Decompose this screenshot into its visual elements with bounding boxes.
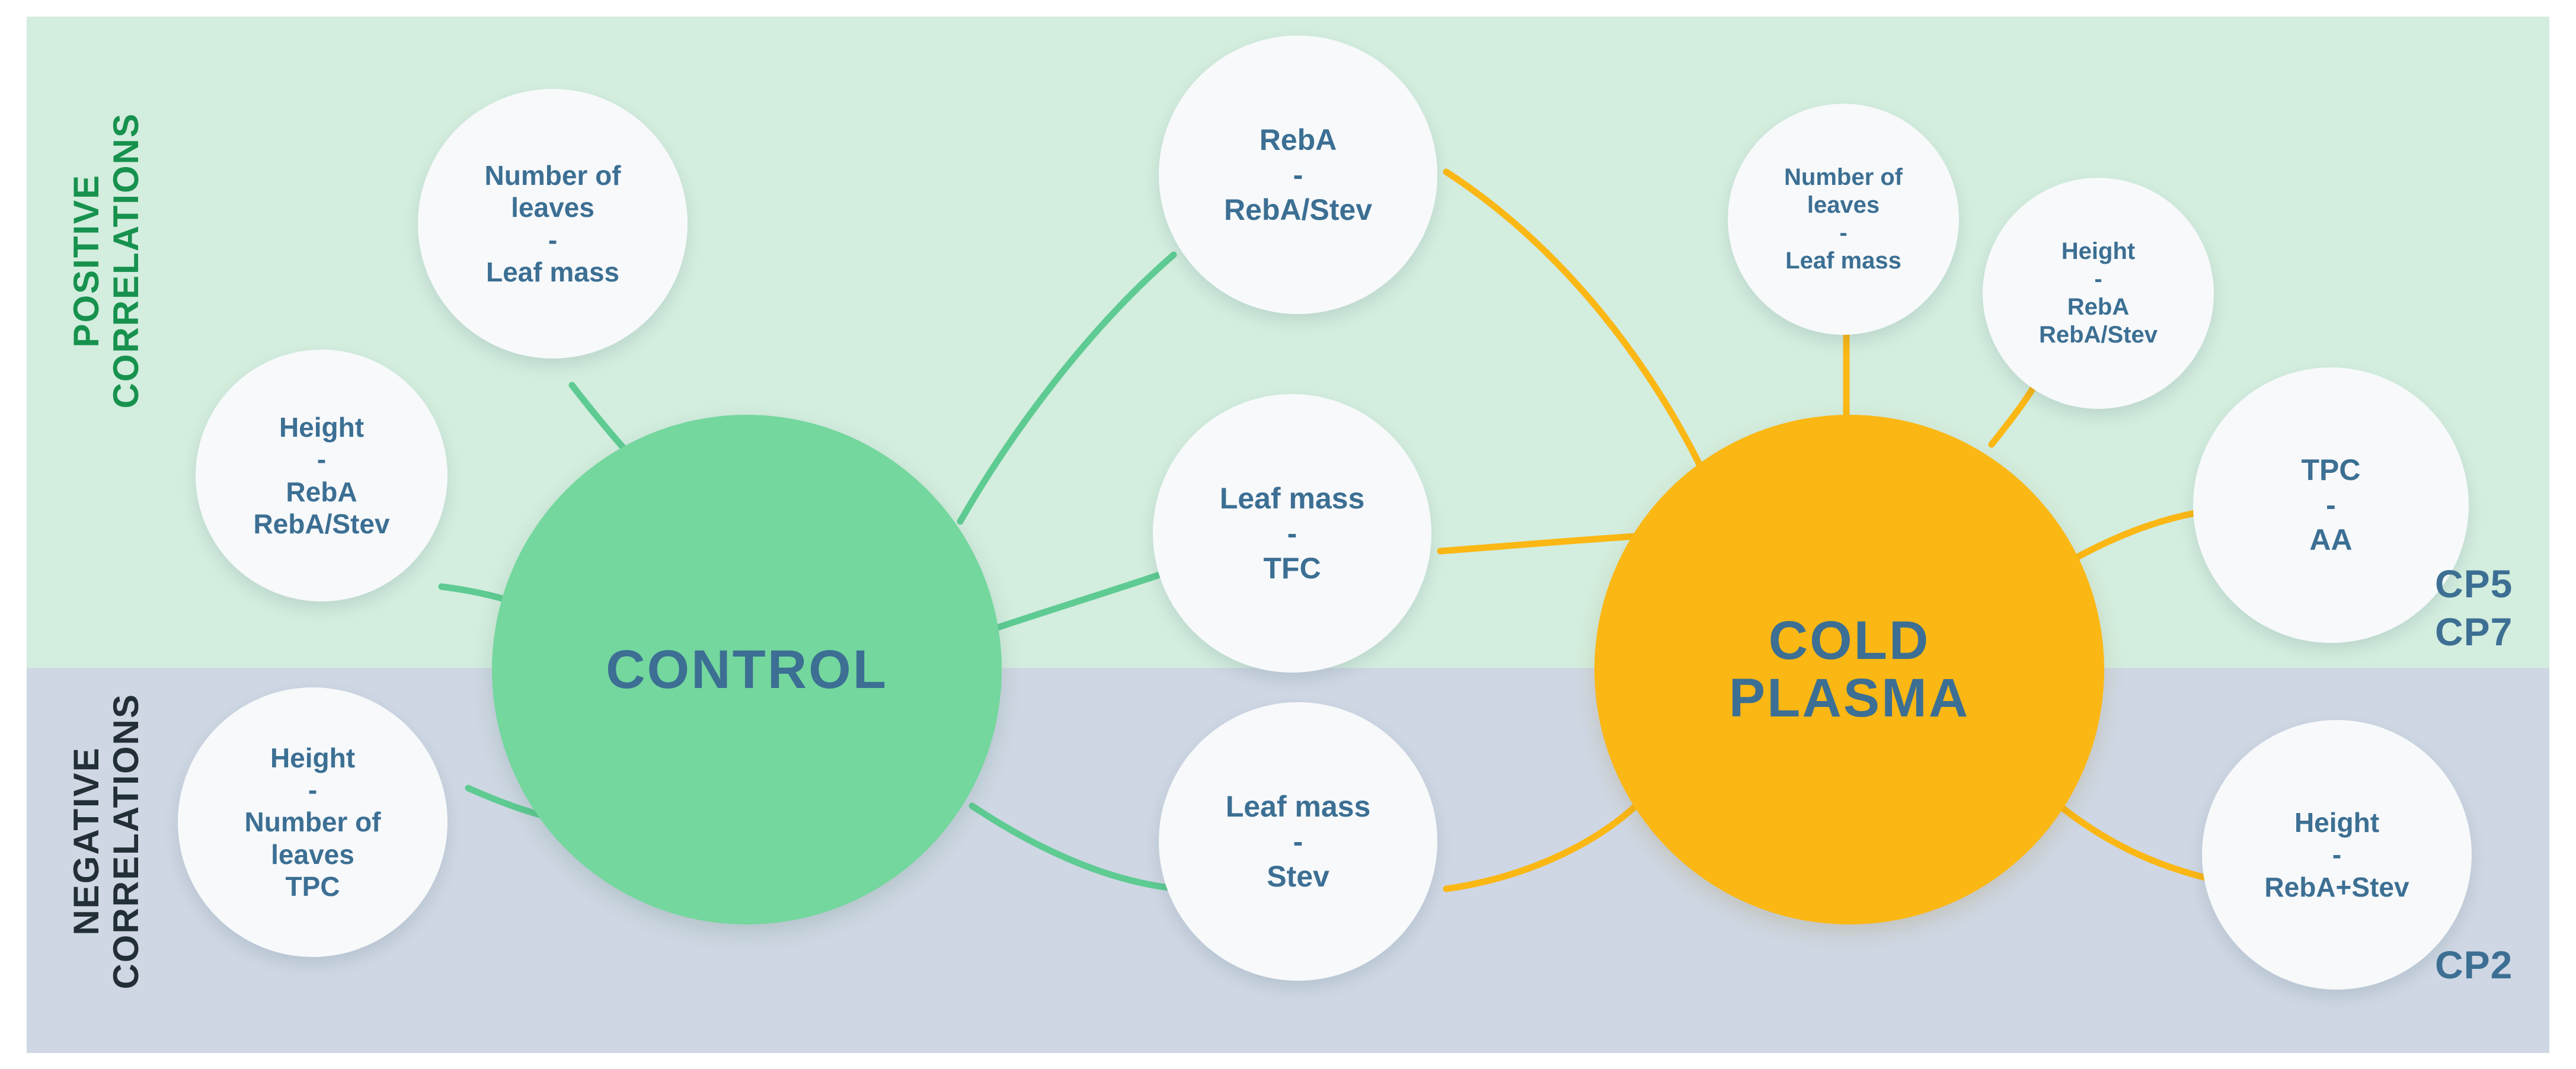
bubble-control-height-numleaves-tpc[interactable]: Height - Number of leaves TPC bbox=[178, 687, 448, 957]
bubble-leaf-mass-tfc[interactable]: Leaf mass - TFC bbox=[1153, 394, 1431, 673]
cp-codes-positive: CP5 CP7 bbox=[2435, 560, 2513, 655]
link-control-leafmass-stev bbox=[972, 806, 1180, 889]
link-plasma-leafmass-stev bbox=[1446, 800, 1642, 889]
bubble-plasma-height-reba-rebastev[interactable]: Height - RebA RebA/Stev bbox=[1983, 178, 2214, 409]
bubble-control-height-reba[interactable]: Height - RebA RebA/Stev bbox=[196, 350, 448, 601]
link-plasma-reba-rebastev bbox=[1446, 172, 1707, 480]
cp-codes-negative: CP2 bbox=[2435, 941, 2513, 989]
bubble-leaf-mass-stev[interactable]: Leaf mass - Stev bbox=[1159, 702, 1437, 981]
bubble-plasma-number-leaves-leaf-mass[interactable]: Number of leaves - Leaf mass bbox=[1728, 104, 1959, 335]
link-control-leafmass-tfc bbox=[996, 566, 1185, 628]
link-plasma-height-rebastev bbox=[2039, 788, 2229, 883]
bubble-reba-reba-stev[interactable]: RebA - RebA/Stev bbox=[1159, 36, 1437, 314]
bubble-tpc-aa[interactable]: TPC - AA bbox=[2193, 367, 2469, 643]
link-plasma-tpc-aa bbox=[2057, 510, 2217, 569]
bubble-height-reba-plus-stev[interactable]: Height - RebA+Stev bbox=[2202, 720, 2472, 990]
link-control-reba-rebastev bbox=[960, 255, 1174, 521]
hub-cold-plasma[interactable]: COLD PLASMA bbox=[1594, 415, 2104, 924]
hub-control[interactable]: CONTROL bbox=[492, 415, 1002, 924]
bubble-control-number-leaves-leaf-mass[interactable]: Number of leaves - Leaf mass bbox=[418, 89, 688, 359]
link-plasma-leafmass-tfc bbox=[1440, 536, 1636, 551]
diagram-canvas: POSITIVE CORRELATIONS NEGATIVE CORRELATI… bbox=[0, 0, 2576, 1069]
